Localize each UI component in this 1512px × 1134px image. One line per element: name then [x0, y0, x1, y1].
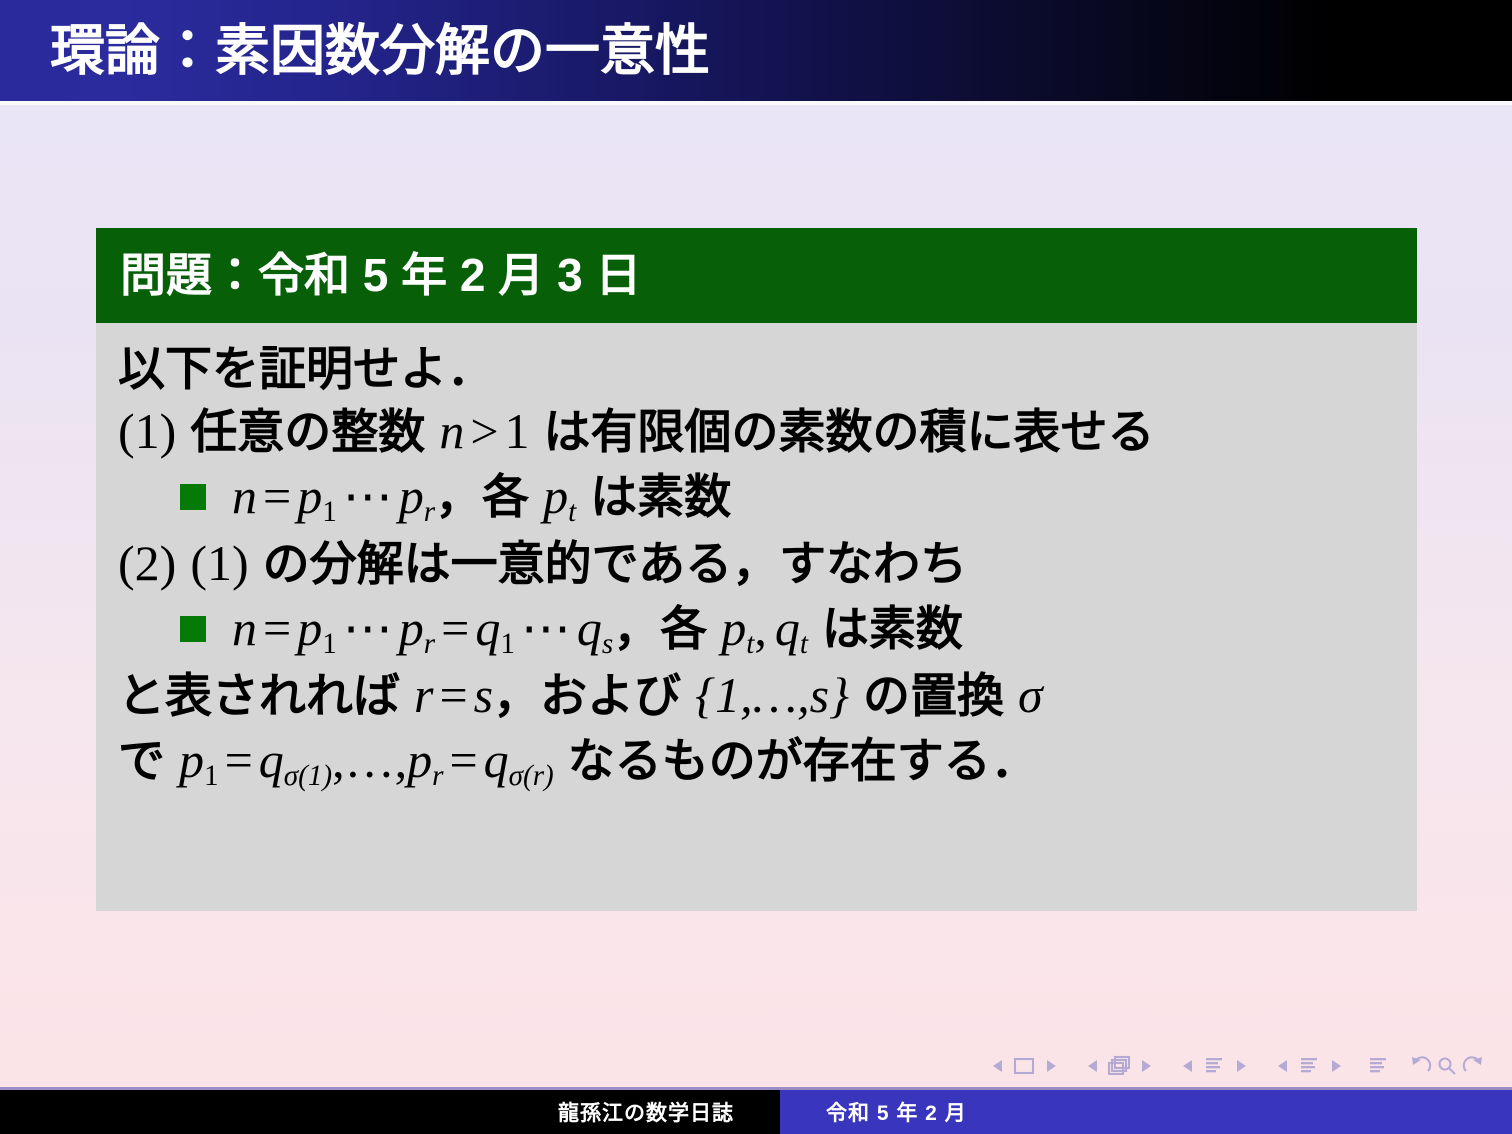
current-frame-stack-icon[interactable] [1106, 1051, 1132, 1081]
bullet-1-lhs: n [232, 468, 257, 524]
problem-block-header: 問題：令和 5 年 2 月 3 日 [96, 228, 1417, 323]
square-bullet-icon [180, 616, 206, 642]
bullet-1-p-first: p [297, 468, 322, 524]
next-subsection-icon[interactable] [1227, 1051, 1253, 1081]
item-1-text-before: 任意の整数 [190, 405, 425, 458]
statement-conclusion-2: でp1=qσ(1),…,pr=qσ(r)なるものが存在する． [118, 731, 1395, 790]
back-arrow-icon[interactable] [1408, 1051, 1434, 1081]
item-2-reference: (1) [190, 535, 248, 591]
conclusion-1-s: s [474, 667, 493, 723]
bullet-2-comma: ， [613, 602, 660, 655]
item-2-label: (2) [118, 535, 176, 591]
statement-intro: 以下を証明せよ． [118, 341, 1395, 396]
bullet-2-qt: q [775, 600, 800, 656]
conclusion-1-r: r [414, 667, 433, 723]
conclusion-2-tail: なるものが存在する． [568, 734, 1038, 787]
nav-group-section[interactable] [1270, 1051, 1348, 1081]
beamer-navigation-bar[interactable] [985, 1047, 1486, 1085]
bullet-2-p-last-sub: r [424, 629, 435, 661]
nav-group-history[interactable] [1408, 1051, 1486, 1081]
bullet-2-dots-1: ⋯ [337, 600, 399, 656]
bullet-2-p-first-sub: 1 [322, 629, 337, 661]
bullet-1-each: 各 [482, 470, 529, 523]
item-1-label: (1) [118, 403, 176, 459]
bullet-1-formula: n=p1⋯pr，各ptは素数 [232, 467, 731, 526]
bullet-1-pt-sub: t [568, 497, 576, 529]
bullet-1-dots: ⋯ [337, 468, 399, 524]
item-1-variable: n [439, 403, 464, 459]
prev-slide-icon[interactable] [985, 1051, 1011, 1081]
bullet-2-formula: n=p1⋯pr=q1⋯qs，各pt,qtは素数 [232, 599, 963, 658]
conclusion-2-pr: p [407, 732, 432, 788]
footer-author-section: 龍孫江の数学日誌 [0, 1090, 780, 1134]
footer-date-section: 令和 5 年 2 月 [780, 1090, 1512, 1134]
item-1-number: 1 [505, 403, 530, 459]
square-bullet-icon [180, 484, 206, 510]
title-underline [0, 101, 1512, 105]
footer-author: 龍孫江の数学日誌 [558, 1097, 734, 1127]
conclusion-1-lead: と表されれば [118, 669, 400, 722]
conclusion-1-and: および [540, 669, 681, 722]
conclusion-2-qr: q [484, 732, 509, 788]
bullet-2-pt: p [721, 600, 746, 656]
bullet-1-comma: ， [435, 470, 482, 523]
conclusion-2-equals-2: = [443, 732, 483, 788]
presentation-slide: 環論：素因数分解の一意性 問題：令和 5 年 2 月 3 日 以下を証明せよ． … [0, 0, 1512, 1134]
bullet-2-q-first: q [475, 600, 500, 656]
conclusion-2-p1: p [179, 732, 204, 788]
current-section-lines-icon[interactable] [1296, 1051, 1322, 1081]
conclusion-2-pr-sub: r [432, 761, 443, 793]
bullet-2-qt-sub: t [800, 629, 808, 661]
prev-section-icon[interactable] [1270, 1051, 1296, 1081]
item-1-text-after: は有限個の素数の積に表せる [544, 405, 1155, 458]
bullet-2-equals-1: = [257, 600, 297, 656]
conclusion-2-q1: q [259, 732, 284, 788]
problem-block-title: 問題：令和 5 年 2 月 3 日 [120, 252, 641, 298]
bullet-2-separator: , [754, 600, 767, 656]
next-section-icon[interactable] [1322, 1051, 1348, 1081]
next-frame-icon[interactable] [1132, 1051, 1158, 1081]
nav-group-slide[interactable] [985, 1051, 1063, 1081]
conclusion-2-ellipsis: ,…, [332, 732, 407, 788]
current-subsection-lines-icon[interactable] [1201, 1051, 1227, 1081]
bullet-2-tail: は素数 [822, 602, 963, 655]
bullet-2-each: 各 [660, 602, 707, 655]
statement-item-1: (1)任意の整数n>1は有限個の素数の積に表せる [118, 402, 1395, 461]
bullet-2-p-first: p [297, 600, 322, 656]
bullet-2-p-last: p [399, 600, 424, 656]
document-lines-icon[interactable] [1365, 1051, 1391, 1081]
conclusion-1-comma: ， [493, 669, 540, 722]
bullet-1-p-last-sub: r [424, 497, 435, 529]
problem-block: 問題：令和 5 年 2 月 3 日 以下を証明せよ． (1)任意の整数n>1は有… [96, 228, 1417, 911]
bullet-2-lhs: n [232, 600, 257, 656]
problem-block-body: 以下を証明せよ． (1)任意の整数n>1は有限個の素数の積に表せる n=p1⋯p… [96, 323, 1417, 911]
conclusion-1-sigma: σ [1018, 667, 1043, 723]
item-2-text: の分解は一意的である，すなわち [263, 537, 968, 590]
bullet-1-tail: は素数 [590, 470, 731, 523]
bullet-2-q-last: q [577, 600, 602, 656]
next-slide-icon[interactable] [1037, 1051, 1063, 1081]
conclusion-2-lead: で [118, 734, 165, 787]
bullet-1-equals: = [257, 468, 297, 524]
footer-date: 令和 5 年 2 月 [826, 1097, 967, 1127]
bullet-1-p-first-sub: 1 [322, 497, 337, 529]
conclusion-2-q1-sub: σ(1) [284, 761, 332, 793]
statement-conclusion-1: と表されればr=s，および{1,…,s}の置換σ [118, 666, 1395, 725]
conclusion-2-equals-1: = [219, 732, 259, 788]
bullet-1-p-last: p [399, 468, 424, 524]
statement-bullet-2: n=p1⋯pr=q1⋯qs，各pt,qtは素数 [180, 599, 1395, 658]
forward-arrow-icon[interactable] [1460, 1051, 1486, 1081]
bullet-2-q-last-sub: s [602, 629, 613, 661]
conclusion-2-p1-sub: 1 [204, 761, 219, 793]
nav-group-frame[interactable] [1080, 1051, 1158, 1081]
bullet-2-dots-2: ⋯ [515, 600, 577, 656]
slide-footer: 龍孫江の数学日誌 令和 5 年 2 月 [0, 1090, 1512, 1134]
item-1-relation: > [464, 403, 504, 459]
current-slide-icon[interactable] [1011, 1051, 1037, 1081]
bullet-2-equals-2: = [435, 600, 475, 656]
bullet-1-pt: p [543, 468, 568, 524]
conclusion-2-qr-sub: σ(r) [509, 761, 554, 793]
statement-intro-text: 以下を証明せよ． [118, 342, 494, 395]
conclusion-1-equals: = [433, 667, 473, 723]
prev-subsection-icon[interactable] [1175, 1051, 1201, 1081]
bullet-2-q-first-sub: 1 [500, 629, 515, 661]
prev-frame-icon[interactable] [1080, 1051, 1106, 1081]
conclusion-1-mid: の置換 [863, 669, 1004, 722]
nav-group-document[interactable] [1365, 1051, 1391, 1081]
slide-title-bar: 環論：素因数分解の一意性 [0, 0, 1512, 101]
search-icon[interactable] [1434, 1051, 1460, 1081]
nav-group-subsection[interactable] [1175, 1051, 1253, 1081]
statement-bullet-1: n=p1⋯pr，各ptは素数 [180, 467, 1395, 526]
statement-item-2: (2)(1)の分解は一意的である，すなわち [118, 534, 1395, 593]
conclusion-1-set: {1,…,s} [695, 667, 849, 723]
slide-title: 環論：素因数分解の一意性 [50, 23, 710, 78]
